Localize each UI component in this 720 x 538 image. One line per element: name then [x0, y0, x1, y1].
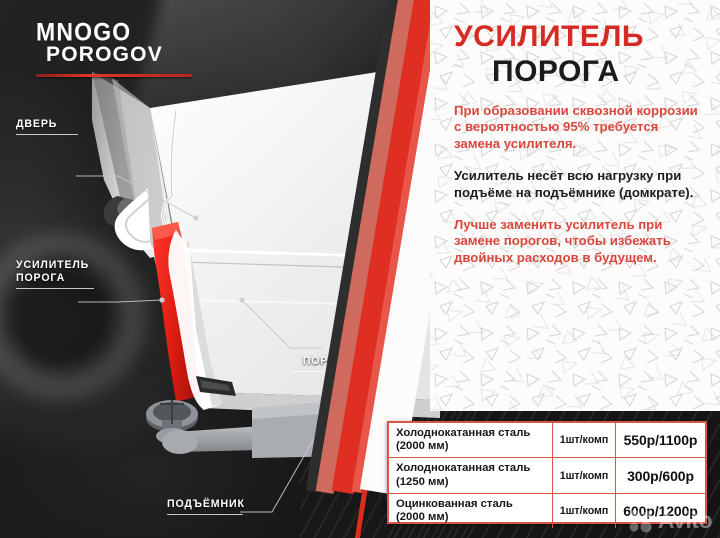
table-cell-price: 550р/1100р: [616, 423, 705, 457]
material-size: (2000 мм): [396, 440, 545, 453]
brand-logo-line2: POROGOV: [46, 43, 163, 66]
callout-jack-label: ПОДЪЁМНИК: [167, 498, 243, 511]
brand-logo-underline: [36, 74, 192, 77]
table-row: Холоднокатанная сталь (2000 мм) 1шт/комп…: [389, 423, 705, 458]
table-cell-price: 300р/600р: [616, 458, 705, 492]
avito-watermark-text: Avito: [658, 507, 712, 534]
material-size: (2000 мм): [396, 511, 545, 524]
paragraph-corrosion: При образовании сквозной коррозии с веро…: [454, 103, 706, 152]
paragraph-load: Усилитель несёт всю нагрузку при подъёме…: [454, 168, 706, 201]
table-cell-material: Оцинкованная сталь (2000 мм): [389, 494, 553, 528]
avito-logo-icon: [628, 508, 654, 534]
avito-watermark: Avito: [628, 507, 712, 534]
page-title-secondary: ПОРОГА: [492, 56, 706, 88]
info-panel: УСИЛИТЕЛЬ ПОРОГА При образовании сквозно…: [430, 0, 720, 411]
table-cell-quantity: 1шт/комп: [553, 494, 616, 528]
callout-reinforcer: УСИЛИТЕЛЬ ПОРОГА: [16, 259, 94, 289]
callout-door-underline: [16, 134, 78, 135]
callout-reinforcer-underline: [16, 288, 94, 289]
callout-jack: ПОДЪЁМНИК: [167, 498, 243, 515]
material-name: Холоднокатанная сталь: [396, 462, 545, 475]
callout-door: ДВЕРЬ: [16, 118, 78, 135]
callout-jack-underline: [167, 514, 243, 515]
table-cell-material: Холоднокатанная сталь (2000 мм): [389, 423, 553, 457]
callout-reinforcer-label-1: УСИЛИТЕЛЬ: [16, 259, 94, 272]
table-cell-material: Холоднокатанная сталь (1250 мм): [389, 458, 553, 492]
material-name: Оцинкованная сталь: [396, 498, 545, 511]
material-name: Холоднокатанная сталь: [396, 427, 545, 440]
table-row: Холоднокатанная сталь (1250 мм) 1шт/комп…: [389, 458, 705, 493]
brand-logo-wordmark: MNOGO POROGOV: [36, 18, 192, 66]
paragraph-advice: Лучше заменить усилитель при замене поро…: [454, 217, 706, 266]
page-title-primary: УСИЛИТЕЛЬ: [454, 22, 706, 53]
brand-logo: MNOGO POROGOV: [36, 18, 192, 77]
table-cell-quantity: 1шт/комп: [553, 423, 616, 457]
material-size: (1250 мм): [396, 476, 545, 489]
callout-reinforcer-label-2: ПОРОГА: [16, 272, 94, 285]
callout-door-label: ДВЕРЬ: [16, 118, 78, 131]
promo-banner: ДВЕРЬ УСИЛИТЕЛЬ ПОРОГА ПОРОГ ПОДЪЁМНИК M…: [0, 0, 720, 538]
table-cell-quantity: 1шт/комп: [553, 458, 616, 492]
